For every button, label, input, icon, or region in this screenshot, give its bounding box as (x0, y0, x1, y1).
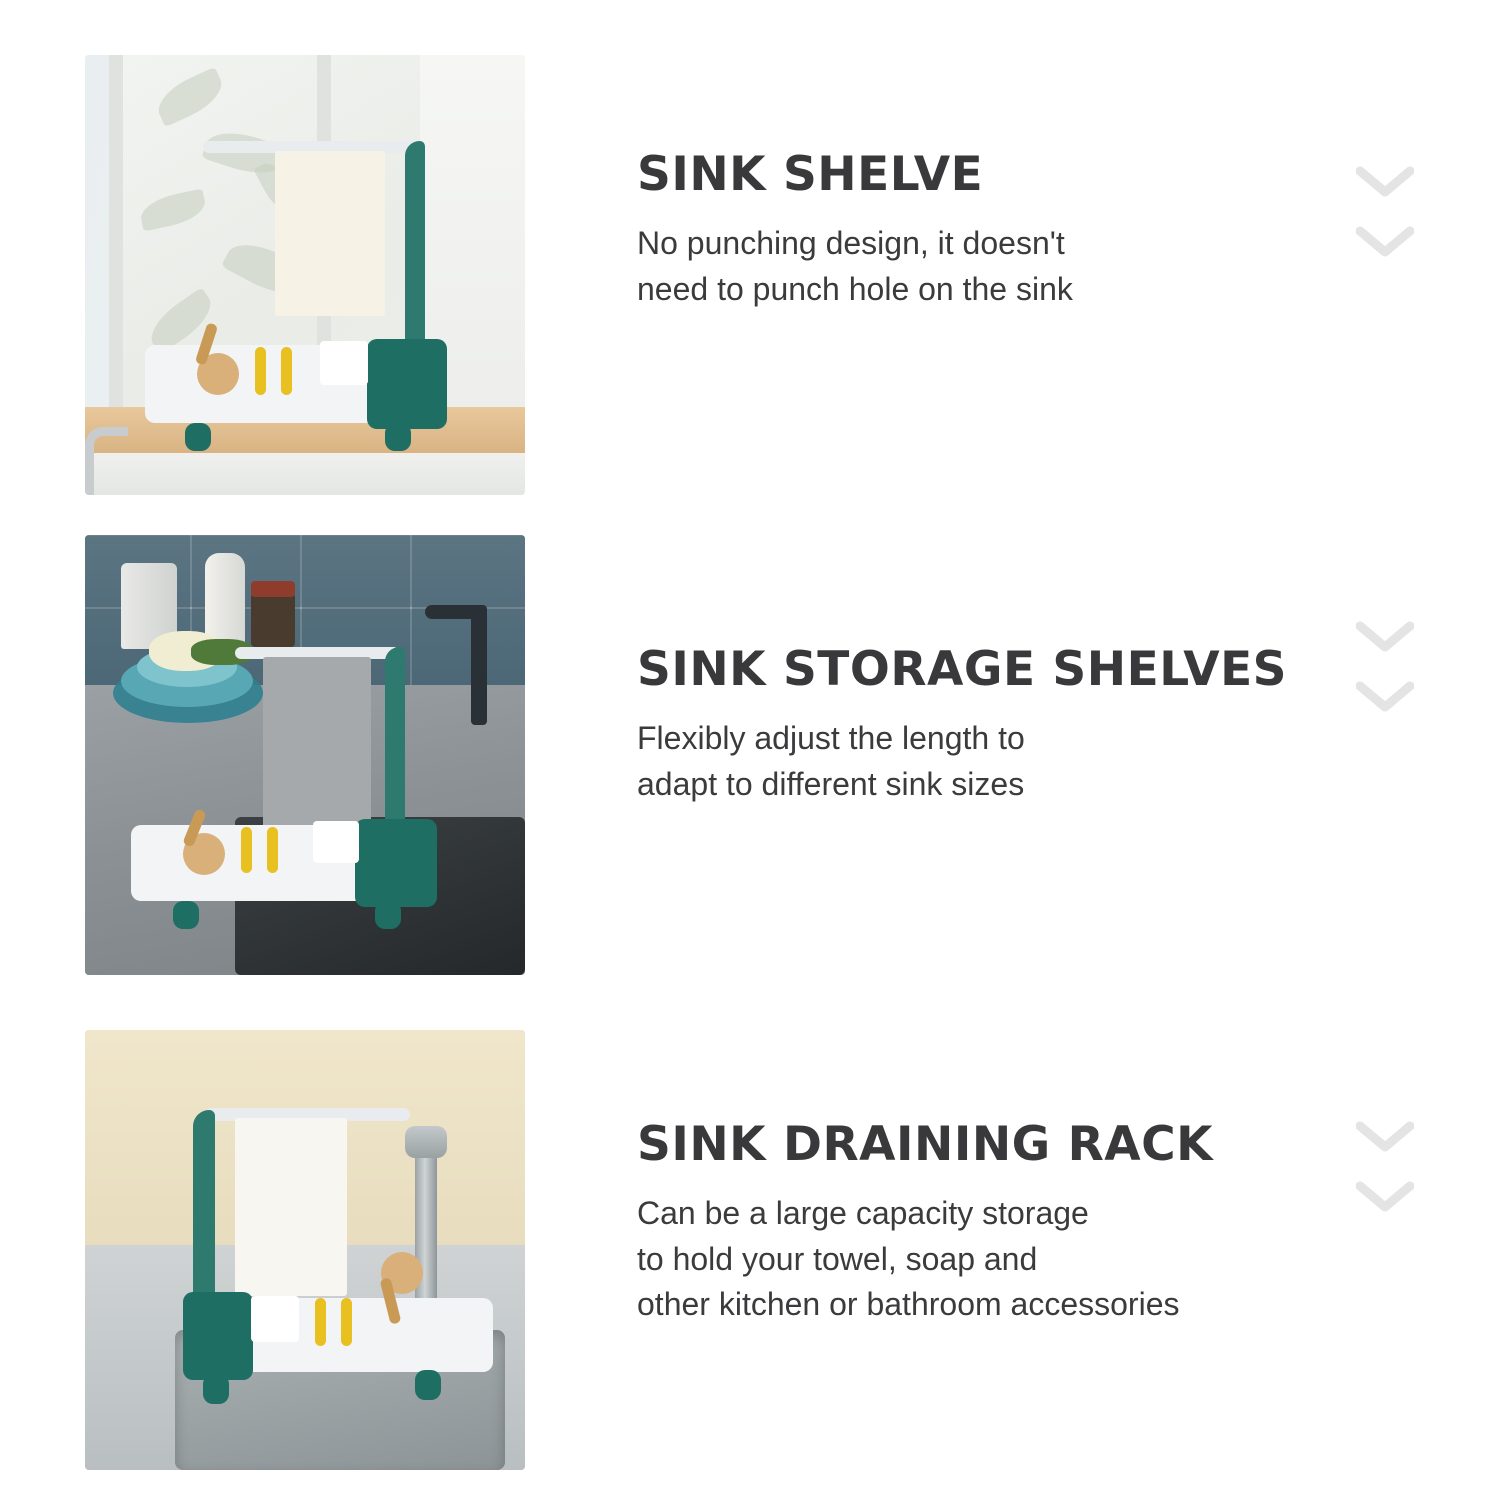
sink-draining-rack-photo (85, 1030, 525, 1470)
feature-desc-line: other kitchen or bathroom accessories (637, 1286, 1179, 1322)
product-feature-page: SINK SHELVE No punching design, it doesn… (0, 0, 1500, 1500)
feature-text-1: SINK SHELVE No punching design, it doesn… (637, 150, 1357, 312)
feature-desc-line: need to punch hole on the sink (637, 271, 1073, 307)
chevron-down-icon (1356, 225, 1414, 259)
chevron-group-3 (1356, 1120, 1418, 1240)
feature-desc-line: No punching design, it doesn't (637, 225, 1065, 261)
feature-title-3: SINK DRAINING RACK (637, 1120, 1357, 1169)
sink-shelve-photo (85, 55, 525, 495)
chevron-down-icon (1356, 680, 1414, 714)
feature-desc-line: adapt to different sink sizes (637, 766, 1024, 802)
chevron-down-icon (1356, 1120, 1414, 1154)
feature-description-1: No punching design, it doesn't need to p… (637, 221, 1357, 312)
feature-image-2 (85, 535, 525, 975)
chevron-down-icon (1356, 165, 1414, 199)
feature-row-2: SINK STORAGE SHELVES Flexibly adjust the… (0, 535, 1500, 975)
feature-desc-line: Can be a large capacity storage (637, 1195, 1089, 1231)
feature-description-3: Can be a large capacity storage to hold … (637, 1191, 1357, 1327)
sink-storage-shelves-photo (85, 535, 525, 975)
feature-image-1 (85, 55, 525, 495)
feature-text-2: SINK STORAGE SHELVES Flexibly adjust the… (637, 645, 1357, 807)
feature-title-1: SINK SHELVE (637, 150, 1357, 199)
feature-description-2: Flexibly adjust the length to adapt to d… (637, 716, 1357, 807)
feature-row-3: SINK DRAINING RACK Can be a large capaci… (0, 1030, 1500, 1470)
feature-desc-line: Flexibly adjust the length to (637, 720, 1025, 756)
feature-row-1: SINK SHELVE No punching design, it doesn… (0, 55, 1500, 495)
chevron-group-1 (1356, 165, 1418, 285)
chevron-down-icon (1356, 1180, 1414, 1214)
chevron-group-2 (1356, 620, 1418, 740)
feature-desc-line: to hold your towel, soap and (637, 1241, 1037, 1277)
feature-title-2: SINK STORAGE SHELVES (637, 645, 1357, 694)
feature-text-3: SINK DRAINING RACK Can be a large capaci… (637, 1120, 1357, 1328)
feature-image-3 (85, 1030, 525, 1470)
chevron-down-icon (1356, 620, 1414, 654)
